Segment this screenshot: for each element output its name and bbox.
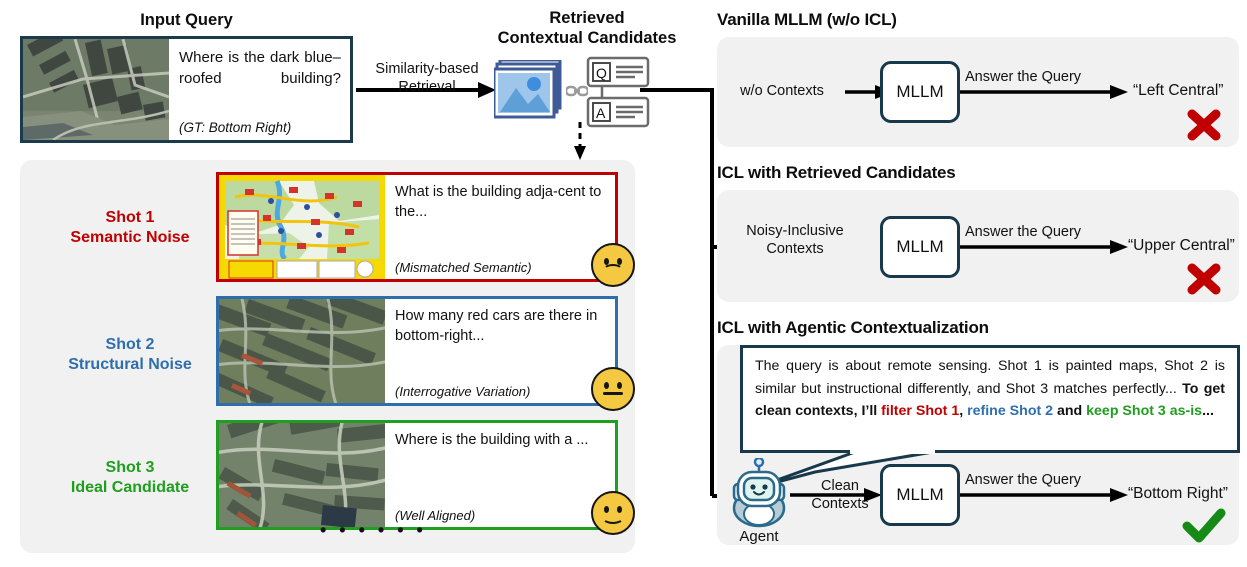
pipeline-2-mllm-label: MLLM [896,237,943,257]
input-query-title: Input Query [20,10,353,30]
shot-3-label-line2: Ideal Candidate [71,479,189,496]
svg-text:A: A [596,105,606,121]
thought-sep-2: and [1053,403,1086,419]
shot-1-question: What is the building adja-cent to the... [395,182,605,222]
pipeline-2-mllm-box: MLLM [880,216,960,278]
retrieval-label-line2: Retrieval [398,79,455,95]
happy-face-icon [591,491,635,535]
pipeline-2-input-label: Noisy-Inclusive Contexts [730,222,860,258]
shot-1-image [219,175,385,279]
pipeline-1-answer: “Left Central” [1133,82,1223,100]
pipeline-2-output-arrow [960,237,1128,257]
pipeline-3-answer: “Bottom Right” [1128,485,1228,503]
thought-refine-shot-2: refine Shot 2 [967,403,1053,419]
retrieved-candidates-title: Retrieved Contextual Candidates [487,8,687,48]
shot-1-card[interactable]: What is the building adja-cent to the...… [216,172,618,282]
thought-plain-1: The query is about remote sensing. Shot … [755,358,1225,397]
input-query-card: Where is the dark blue–roofed building? … [20,36,353,143]
cross-icon [1186,262,1222,296]
shot-3-question: Where is the building with a ... [395,430,605,450]
svg-text:Q: Q [596,65,607,81]
shot-2-tag: (Interrogative Variation) [395,384,605,399]
neutral-face-icon [591,367,635,411]
retrieval-label-line1: Similarity-based [375,61,478,77]
more-shots-ellipsis: • • • • • • [320,520,427,541]
pipeline-1-mllm-box: MLLM [880,61,960,123]
shot-1-tag: (Mismatched Semantic) [395,260,605,275]
painted-map-svg [219,175,385,279]
aerial-streets-svg [219,423,385,527]
shot-1-label: Shot 1 Semantic Noise [50,208,210,248]
shot-1-label-line1: Shot 1 [106,209,155,226]
shot-2-label: Shot 2 Structural Noise [50,335,210,375]
shot-1-label-line2: Semantic Noise [70,229,189,246]
thought-sep-1: , [959,403,967,419]
check-icon [1182,508,1226,544]
shot-2-question: How many red cars are there in bottom-ri… [395,306,605,346]
query-satellite-image [23,39,169,140]
image-stack-icon [494,60,566,122]
thought-keep-shot-3: keep Shot 3 as-is [1086,403,1202,419]
pipeline-2-answer: “Upper Central” [1128,237,1235,255]
shot-2-card[interactable]: How many red cars are there in bottom-ri… [216,296,618,406]
shot-3-label-line1: Shot 3 [106,459,155,476]
shot-3-card[interactable]: Where is the building with a ... (Well A… [216,420,618,530]
thought-filter-shot-1: filter Shot 1 [881,403,959,419]
retrieved-title-line2: Contextual Candidates [498,29,677,47]
dashed-down-arrow [570,122,590,160]
pipeline-1-input-label: w/o Contexts [722,82,842,100]
pipeline-3-title: ICL with Agentic Contextualization [717,318,989,338]
satellite-photo-svg [23,39,169,140]
pipeline-3-input-arrow [790,485,882,505]
shot-2-label-line2: Structural Noise [68,356,192,373]
link-icon [566,84,588,98]
shot-3-label: Shot 3 Ideal Candidate [50,458,210,498]
thought-tail: ... [1202,403,1214,419]
agent-robot-icon[interactable] [728,458,790,528]
query-ground-truth: (GT: Bottom Right) [179,120,341,135]
agent-caption: Agent [728,528,790,545]
shots-panel: Shot 1 Semantic Noise [20,160,635,553]
pipeline-2-title: ICL with Retrieved Candidates [717,163,956,183]
sad-face-icon [591,243,635,287]
pipeline-1-mllm-label: MLLM [896,82,943,102]
aerial-housing-svg [219,299,385,403]
pipeline-3-mllm-box: MLLM [880,464,960,526]
pipeline-2-input-line1: Noisy-Inclusive [746,223,844,239]
cross-icon [1186,108,1222,142]
pipeline-3-mllm-label: MLLM [896,485,943,505]
retrieved-title-line1: Retrieved [549,9,624,27]
pipeline-2-input-line2: Contexts [766,241,823,257]
agent-thought-bubble: The query is about remote sensing. Shot … [740,345,1240,453]
pipeline-1-title: Vanilla MLLM (w/o ICL) [717,10,897,30]
shot-2-image [219,299,385,403]
retrieval-arrow-label: Similarity-based Retrieval [352,60,502,96]
shot-2-label-line1: Shot 2 [106,336,155,353]
pipeline-1-output-arrow [960,82,1128,102]
query-question-text: Where is the dark blue–roofed building? [179,47,341,89]
shot-3-image [219,423,385,527]
pipeline-3-output-arrow [960,485,1128,505]
